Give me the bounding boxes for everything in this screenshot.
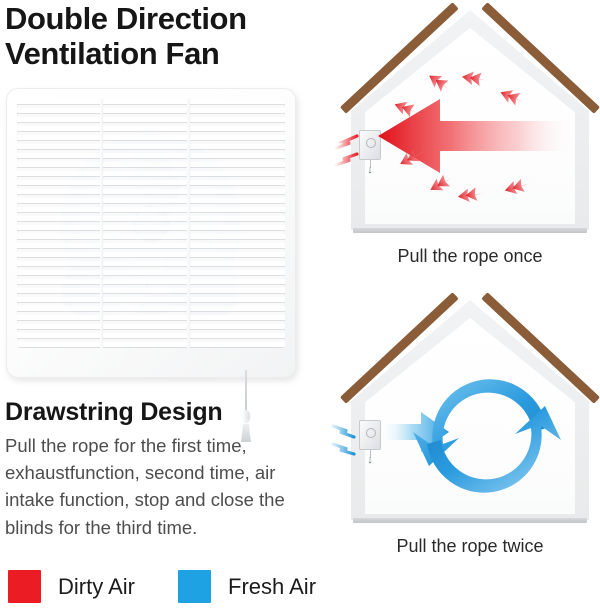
large-red-exhaust-arrow <box>378 97 573 175</box>
airflow-legend: Dirty Air Fresh Air <box>6 570 336 608</box>
drawstring-heading: Drawstring Design <box>5 398 265 427</box>
fan-unit-body <box>359 420 381 450</box>
diagram-intake: ↓ <box>345 292 595 567</box>
page-title: Double Direction Ventilation Fan <box>5 2 325 71</box>
fan-unit-dial-icon <box>366 138 376 148</box>
house-floor <box>353 228 587 233</box>
house-illustration: ↓ <box>345 2 595 237</box>
house-illustration: ↓ <box>345 292 595 527</box>
fan-louver-post <box>100 99 103 348</box>
pull-down-arrow-icon: ↓ <box>366 456 374 465</box>
fan-grille <box>17 99 285 348</box>
dirty-air-swatch <box>8 570 41 603</box>
blue-circulation-arrows <box>407 360 567 510</box>
wall-mounted-fan-unit: ↓ <box>359 420 381 464</box>
diagram-caption-exhaust: Pull the rope once <box>345 246 595 267</box>
house-floor <box>353 518 587 523</box>
legend-item-fresh-air: Fresh Air <box>178 570 316 603</box>
diagram-caption-intake: Pull the rope twice <box>345 536 595 557</box>
legend-label-dirty-air: Dirty Air <box>58 574 135 600</box>
diagram-exhaust: ↓ <box>345 2 595 277</box>
drawstring-description: Pull the rope for the first time, exhaus… <box>5 432 297 541</box>
page-title-line-1: Double Direction <box>5 2 325 37</box>
legend-item-dirty-air: Dirty Air <box>8 570 135 603</box>
exterior-intake-puff-icon <box>331 420 361 456</box>
exterior-exhaust-puff-icon <box>333 132 359 168</box>
legend-label-fresh-air: Fresh Air <box>228 574 316 600</box>
fan-product-image <box>6 88 296 378</box>
page-title-line-2: Ventilation Fan <box>5 37 325 72</box>
fresh-air-swatch <box>178 570 211 603</box>
pull-down-arrow-icon: ↓ <box>366 166 374 175</box>
fan-unit-dial-icon <box>366 428 376 438</box>
fan-frame <box>6 88 296 378</box>
fan-louver-post <box>187 99 190 348</box>
fan-louver-slats <box>17 99 285 348</box>
